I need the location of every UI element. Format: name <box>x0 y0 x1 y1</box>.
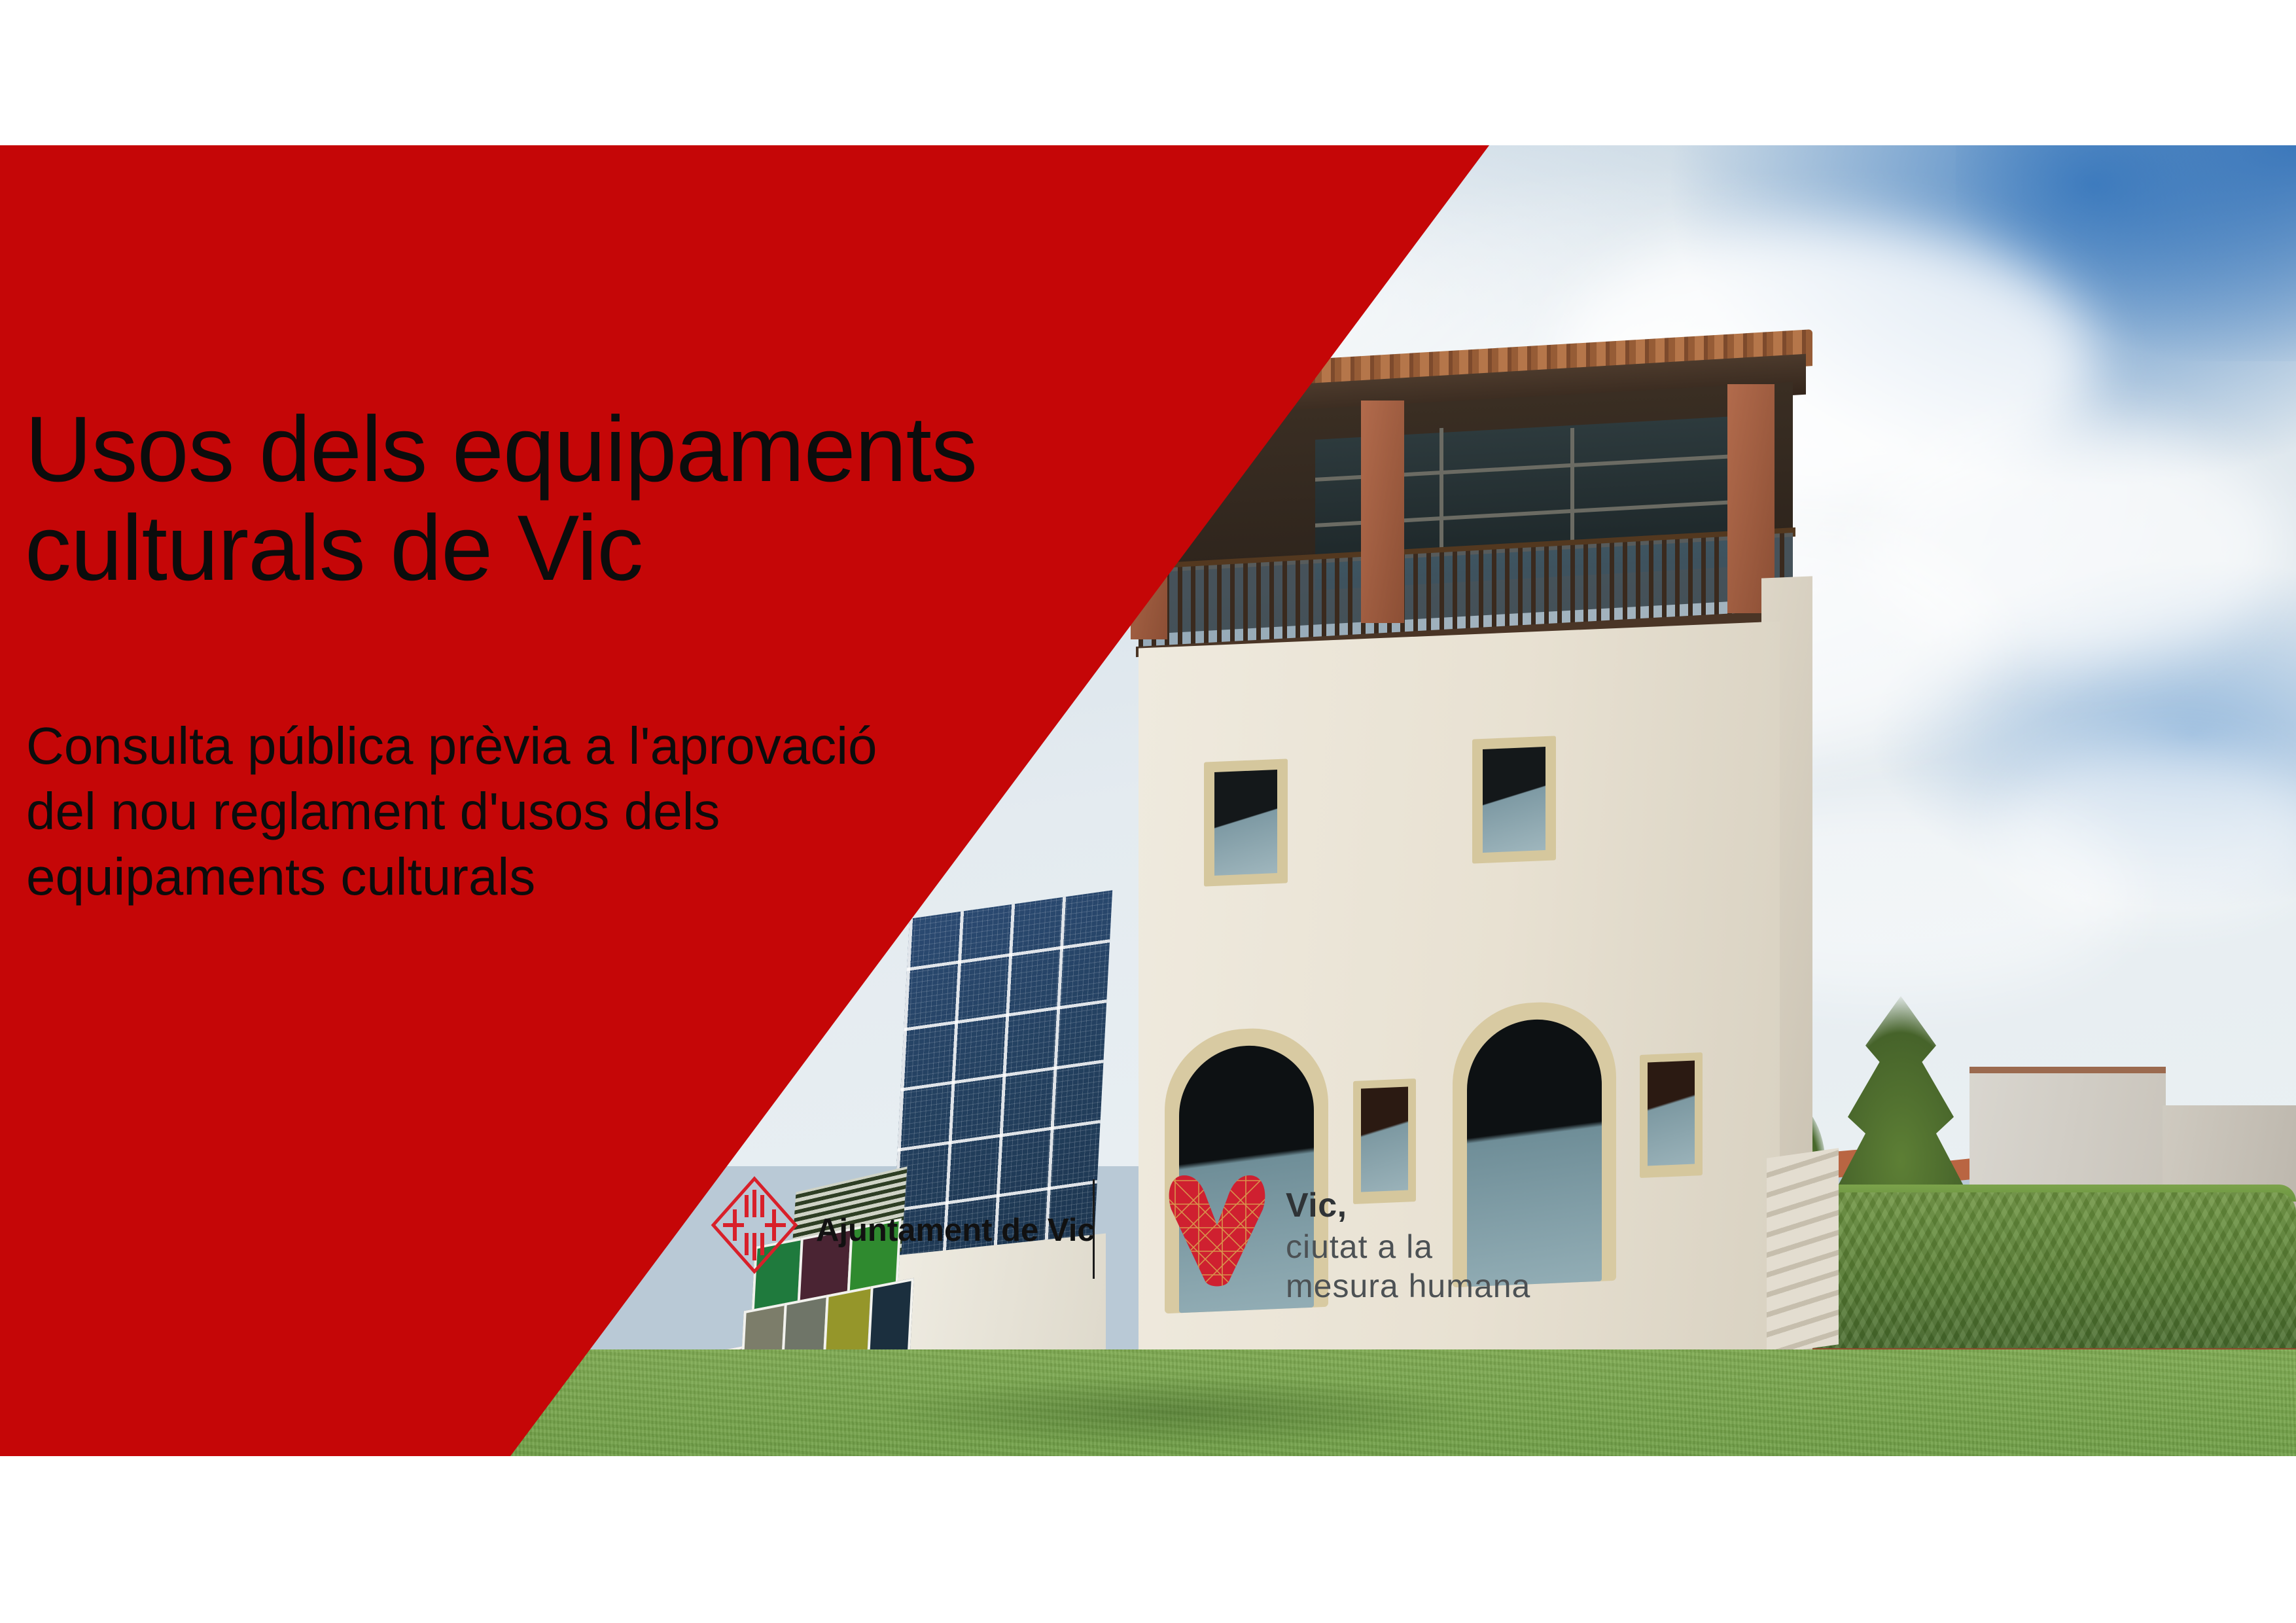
window-glass <box>1483 747 1545 853</box>
exterior-staircase <box>1767 1148 1839 1354</box>
ajuntament-de-vic-crest-icon <box>710 1175 799 1275</box>
lawn-shadow <box>883 1376 1472 1448</box>
page-subtitle: Consulta pública prèvia a l'aprovació de… <box>26 713 955 910</box>
brick-pilaster <box>1361 401 1404 623</box>
slide-canvas: Usos dels equipaments culturals de Vic C… <box>0 0 2296 1623</box>
window-glass <box>1214 770 1277 876</box>
stone-window <box>1472 736 1556 863</box>
page-title: Usos dels equipaments culturals de Vic <box>25 401 1333 597</box>
ajuntament-label: Ajuntament de Vic <box>816 1212 1095 1249</box>
window-glass <box>1648 1060 1695 1166</box>
logo-divider <box>1093 1179 1095 1279</box>
small-window <box>1640 1052 1703 1178</box>
stone-window <box>1204 758 1288 886</box>
vic-logo-name: Vic, <box>1286 1186 1347 1225</box>
vic-tagline-line2: mesura humana <box>1286 1267 1530 1305</box>
vic-tagline-line1: ciutat a la <box>1286 1228 1433 1266</box>
logo-bar: Ajuntament de Vic <box>710 1171 1561 1309</box>
vic-v-heart-logo-icon <box>1165 1171 1269 1288</box>
